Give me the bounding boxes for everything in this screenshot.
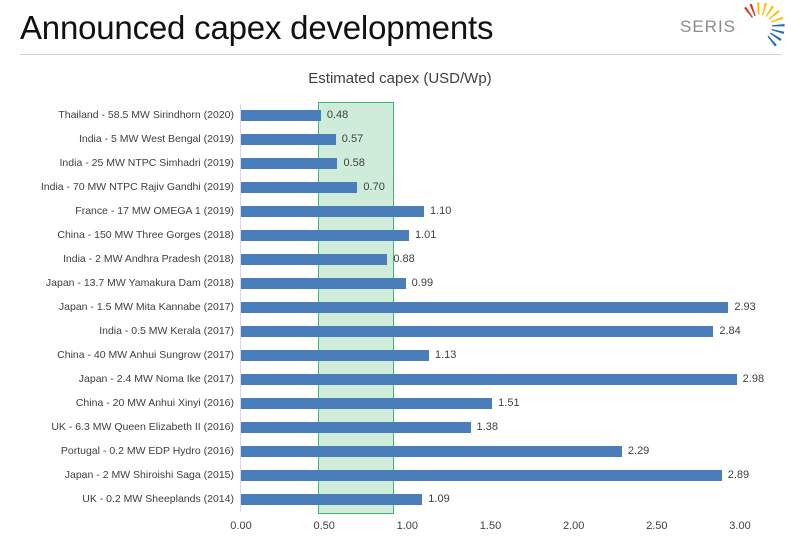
bar[interactable] xyxy=(241,422,471,433)
category-label: China - 150 MW Three Gorges (2018) xyxy=(57,228,234,242)
bar-row: UK - 6.3 MW Queen Elizabeth II (2016)1.3… xyxy=(0,416,800,440)
bar-value-label: 0.88 xyxy=(393,252,414,266)
bar-value-label: 0.57 xyxy=(342,132,363,146)
x-axis: 0.000.501.001.502.002.503.00 xyxy=(0,512,800,542)
bar[interactable] xyxy=(241,302,728,313)
bar-row: Japan - 2.4 MW Noma Ike (2017)2.98 xyxy=(0,368,800,392)
bar[interactable] xyxy=(241,494,422,505)
bar-value-label: 2.84 xyxy=(719,324,740,338)
bar[interactable] xyxy=(241,470,722,481)
bar-row: Portugal - 0.2 MW EDP Hydro (2016)2.29 xyxy=(0,440,800,464)
bar-row: India - 25 MW NTPC Simhadri (2019)0.58 xyxy=(0,152,800,176)
page-header: Announced capex developments SERIS xyxy=(0,0,800,56)
category-label: Japan - 1.5 MW Mita Kannabe (2017) xyxy=(59,300,234,314)
bar-value-label: 0.70 xyxy=(363,180,384,194)
category-label: Portugal - 0.2 MW EDP Hydro (2016) xyxy=(61,444,234,458)
category-label: UK - 0.2 MW Sheeplands (2014) xyxy=(82,492,234,506)
bar[interactable] xyxy=(241,350,429,361)
bar-value-label: 2.29 xyxy=(628,444,649,458)
x-axis-tick-label: 1.50 xyxy=(480,520,501,532)
category-label: India - 5 MW West Bengal (2019) xyxy=(79,132,234,146)
category-label: Japan - 13.7 MW Yamakura Dam (2018) xyxy=(46,276,234,290)
bar-value-label: 2.89 xyxy=(728,468,749,482)
bar-row: UK - 0.2 MW Sheeplands (2014)1.09 xyxy=(0,488,800,512)
category-label: Japan - 2 MW Shiroishi Saga (2015) xyxy=(65,468,234,482)
category-label: India - 0.5 MW Kerala (2017) xyxy=(99,324,234,338)
capex-bar-chart: Estimated capex (USD/Wp) Thailand - 58.5… xyxy=(0,56,800,544)
bar-value-label: 1.09 xyxy=(428,492,449,506)
x-axis-tick-label: 2.50 xyxy=(646,520,667,532)
bar-value-label: 1.38 xyxy=(477,420,498,434)
category-label: India - 25 MW NTPC Simhadri (2019) xyxy=(60,156,234,170)
bar-row: Japan - 1.5 MW Mita Kannabe (2017)2.93 xyxy=(0,296,800,320)
header-divider xyxy=(20,54,782,55)
bar-row: Thailand - 58.5 MW Sirindhorn (2020)0.48 xyxy=(0,104,800,128)
bar[interactable] xyxy=(241,254,387,265)
bar[interactable] xyxy=(241,158,337,169)
bar-value-label: 0.48 xyxy=(327,108,348,122)
bar-row: France - 17 MW OMEGA 1 (2019)1.10 xyxy=(0,200,800,224)
bar-value-label: 0.99 xyxy=(412,276,433,290)
bar-row: India - 70 MW NTPC Rajiv Gandhi (2019)0.… xyxy=(0,176,800,200)
bar-value-label: 2.98 xyxy=(743,372,764,386)
category-label: China - 20 MW Anhui Xinyi (2016) xyxy=(76,396,234,410)
bar-row: India - 2 MW Andhra Pradesh (2018)0.88 xyxy=(0,248,800,272)
bar-row: China - 40 MW Anhui Sungrow (2017)1.13 xyxy=(0,344,800,368)
category-label: India - 70 MW NTPC Rajiv Gandhi (2019) xyxy=(41,180,234,194)
x-axis-tick-label: 0.00 xyxy=(230,520,251,532)
bar-row: India - 5 MW West Bengal (2019)0.57 xyxy=(0,128,800,152)
bar[interactable] xyxy=(241,398,492,409)
seris-logo-text: SERIS xyxy=(680,17,736,37)
bar[interactable] xyxy=(241,182,357,193)
bar-value-label: 1.51 xyxy=(498,396,519,410)
bar[interactable] xyxy=(241,110,321,121)
bar-row: China - 20 MW Anhui Xinyi (2016)1.51 xyxy=(0,392,800,416)
bar-value-label: 2.93 xyxy=(734,300,755,314)
page-title: Announced capex developments xyxy=(20,6,493,50)
bar-row: Japan - 13.7 MW Yamakura Dam (2018)0.99 xyxy=(0,272,800,296)
bar-value-label: 0.58 xyxy=(343,156,364,170)
bar-row: India - 0.5 MW Kerala (2017)2.84 xyxy=(0,320,800,344)
x-axis-tick-label: 0.50 xyxy=(313,520,334,532)
bar[interactable] xyxy=(241,278,406,289)
bar-row: Japan - 2 MW Shiroishi Saga (2015)2.89 xyxy=(0,464,800,488)
category-label: France - 17 MW OMEGA 1 (2019) xyxy=(75,204,234,218)
seris-sunburst-logo-icon xyxy=(734,1,792,53)
bar-value-label: 1.01 xyxy=(415,228,436,242)
x-axis-tick-label: 3.00 xyxy=(729,520,750,532)
x-axis-tick-label: 1.00 xyxy=(397,520,418,532)
bar-value-label: 1.13 xyxy=(435,348,456,362)
x-axis-tick-label: 2.00 xyxy=(563,520,584,532)
category-label: Japan - 2.4 MW Noma Ike (2017) xyxy=(79,372,234,386)
bar[interactable] xyxy=(241,230,409,241)
bar-row: China - 150 MW Three Gorges (2018)1.01 xyxy=(0,224,800,248)
seris-logo: SERIS xyxy=(680,1,792,53)
category-label: China - 40 MW Anhui Sungrow (2017) xyxy=(57,348,234,362)
category-label: Thailand - 58.5 MW Sirindhorn (2020) xyxy=(58,108,234,122)
bar[interactable] xyxy=(241,326,713,337)
bar[interactable] xyxy=(241,446,622,457)
plot-area: Thailand - 58.5 MW Sirindhorn (2020)0.48… xyxy=(0,56,800,544)
bar[interactable] xyxy=(241,206,424,217)
bar[interactable] xyxy=(241,374,737,385)
category-label: UK - 6.3 MW Queen Elizabeth II (2016) xyxy=(51,420,234,434)
bar-value-label: 1.10 xyxy=(430,204,451,218)
bar[interactable] xyxy=(241,134,336,145)
category-label: India - 2 MW Andhra Pradesh (2018) xyxy=(63,252,234,266)
